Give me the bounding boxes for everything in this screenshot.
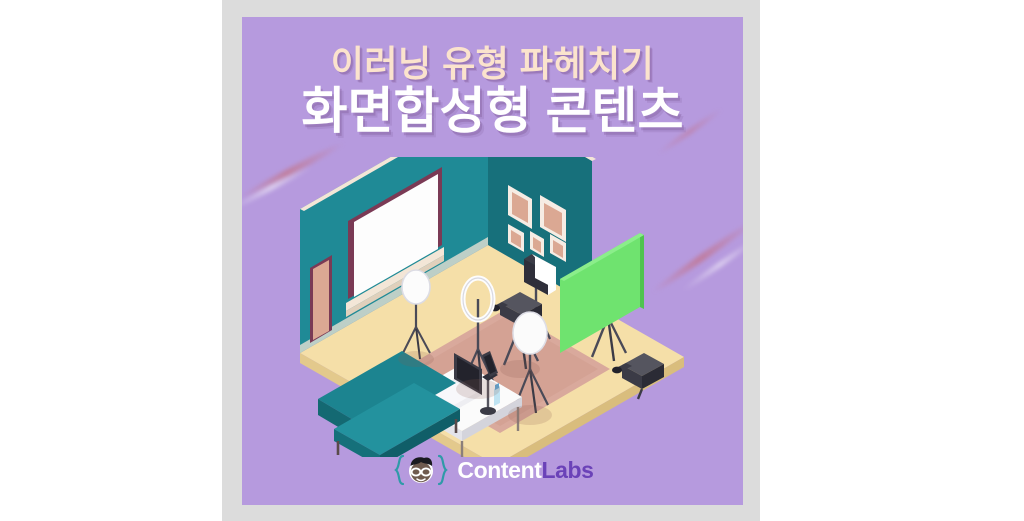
title-block: 이러닝 유형 파헤치기 화면합성형 콘텐츠 [242,45,743,137]
brand-name-primary: Content [457,457,541,483]
promo-card: 이러닝 유형 파헤치기 화면합성형 콘텐츠 [242,17,743,505]
title-line-1: 이러닝 유형 파헤치기 [242,45,743,83]
brand-logo: ContentLabs [242,453,743,487]
studio-illustration [292,157,692,457]
brand-logo-text: ContentLabs [457,459,593,482]
brand-name-secondary: Labs [541,457,593,483]
wall-poster-panel [310,255,332,343]
title-line-2: 화면합성형 콘텐츠 [242,85,743,138]
content-labs-face-icon [391,453,451,487]
page-root: 이러닝 유형 파헤치기 화면합성형 콘텐츠 [0,0,1024,521]
